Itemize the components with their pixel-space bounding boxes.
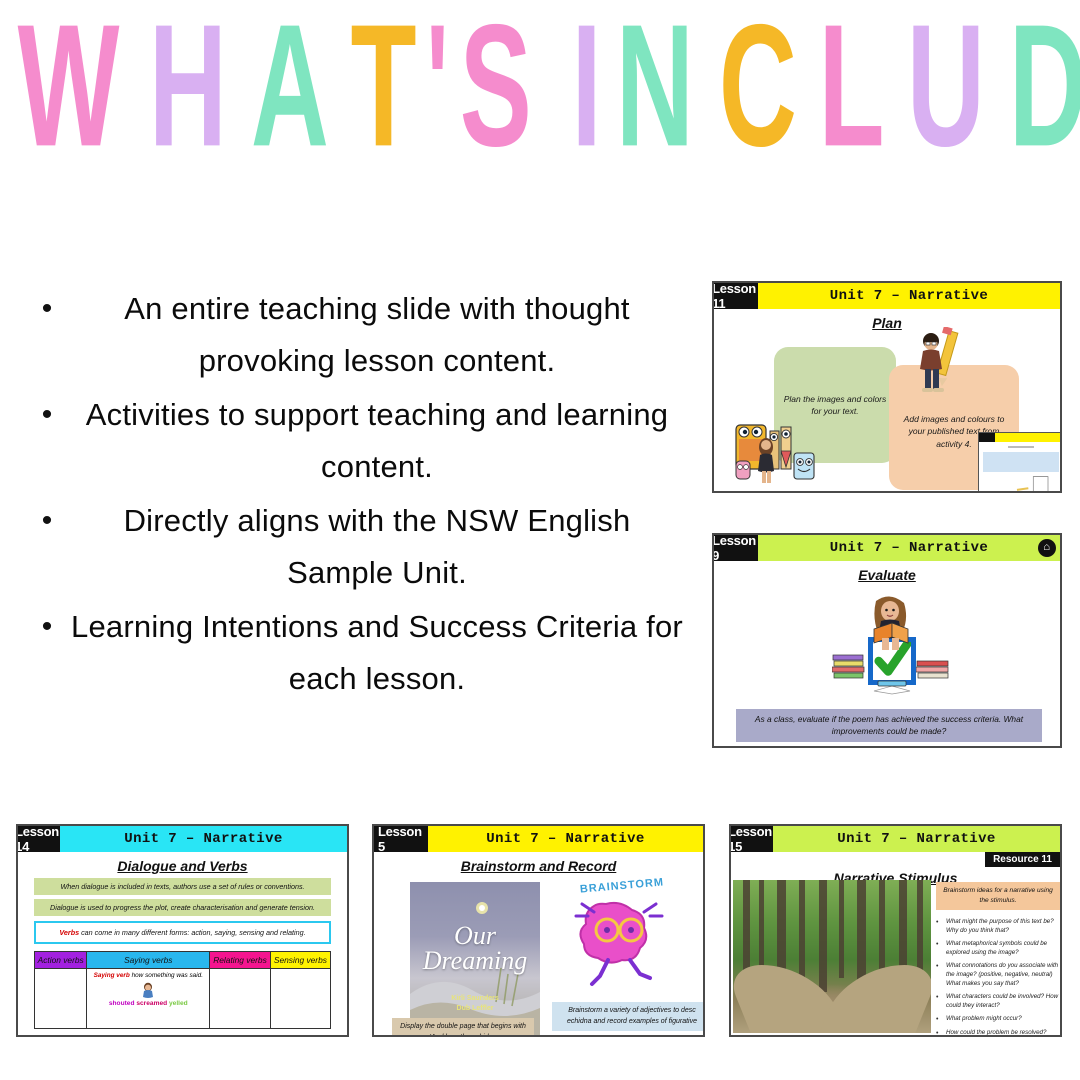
- question-bullet-icon: •: [936, 993, 946, 1011]
- open-book-icon: [872, 679, 912, 695]
- title-letter-8: N: [616, 0, 693, 172]
- mini-slide-caption-box: [983, 452, 1059, 472]
- table-header-row: Action verbs Saying verbs Relating verbs…: [35, 952, 331, 969]
- unit-title-bar: Unit 7 – Narrative: [758, 283, 1060, 309]
- title-letter-10: L: [819, 0, 884, 172]
- question-text: What might the purpose of this text be? …: [946, 918, 1062, 936]
- green-card-text: Plan the images and colors for your text…: [774, 393, 896, 418]
- mini-lesson-tag: [979, 433, 995, 442]
- bullet-text: An entire teaching slide with thought pr…: [68, 283, 686, 387]
- brainstorm-caption: Brainstorm a variety of adjectives to de…: [552, 1002, 705, 1031]
- bullet-marker-icon: •: [26, 389, 68, 441]
- stimulus-question-5: •What problem might occur?: [936, 1015, 1062, 1025]
- book-stack-left-icon: [832, 653, 866, 679]
- bullet-item-4: •Learning Intentions and Success Criteri…: [26, 601, 686, 705]
- slide-thumbnail-lesson-11[interactable]: Lesson 11 Unit 7 – Narrative Plan Plan t…: [712, 281, 1062, 493]
- splash-word-shouted: shouted: [109, 1000, 135, 1007]
- title-letter-5: S: [459, 0, 530, 172]
- bullet-item-1: •An entire teaching slide with thought p…: [26, 283, 686, 387]
- nested-mini-slide: [978, 432, 1062, 492]
- cell-relating-verbs[interactable]: [210, 969, 271, 1029]
- lesson-number-tag: Lesson 15: [729, 826, 773, 852]
- title-letter-11: U: [906, 0, 983, 172]
- mini-unit-bar: [995, 433, 1062, 442]
- stimulus-question-1: •What might the purpose of this text be?…: [936, 918, 1062, 936]
- mini-paper-pencil-icon: [979, 475, 1062, 493]
- cell-saying-verbs[interactable]: Saying verb how something was said. shou…: [87, 969, 210, 1029]
- cell-note-rest: how something was said.: [130, 972, 203, 979]
- title-letter-2: A: [251, 0, 328, 172]
- splash-word-yelled: yelled: [169, 1000, 188, 1007]
- question-bullet-icon: •: [936, 918, 946, 936]
- slide-body: Plan Plan the images and colors for your…: [714, 309, 1060, 493]
- info-bar-highlight: Verbs can come in many different forms: …: [34, 921, 331, 944]
- brain-character-icon: [564, 886, 674, 996]
- question-bullet-icon: •: [936, 940, 946, 958]
- slide-thumbnail-lesson-5[interactable]: Lesson 5 Unit 7 – Narrative Brainstorm a…: [372, 824, 705, 1037]
- bullet-marker-icon: •: [26, 283, 68, 335]
- stimulus-question-3: •What connotations do you associate with…: [936, 962, 1062, 989]
- bullet-text: Activities to support teaching and learn…: [68, 389, 686, 493]
- question-text: What connotations do you associate with …: [946, 962, 1062, 989]
- unit-title-text: Unit 7 – Narrative: [830, 288, 988, 304]
- title-letter-1: H: [148, 0, 225, 172]
- cell-sensing-verbs[interactable]: [270, 969, 330, 1029]
- slide-thumbnail-lesson-14[interactable]: Lesson 14 Unit 7 – Narrative Dialogue an…: [16, 824, 349, 1037]
- bullet-text: Learning Intentions and Success Criteria…: [68, 601, 686, 705]
- bullet-marker-icon: •: [26, 601, 68, 653]
- unit-title-text: Unit 7 – Narrative: [486, 831, 644, 847]
- table-header-action: Action verbs: [35, 952, 87, 969]
- slide-header: Lesson 15 Unit 7 – Narrative: [731, 826, 1060, 852]
- bullet-text: Directly aligns with the NSW English Sam…: [68, 495, 686, 599]
- verb-types-table: Action verbs Saying verbs Relating verbs…: [34, 951, 331, 1029]
- slide-title: Brainstorm and Record: [374, 852, 703, 874]
- unit-title-text: Unit 7 – Narrative: [830, 540, 988, 556]
- question-text: What problem might occur?: [946, 1015, 1062, 1025]
- page-title: WHAT'SINCLUDED: [0, 22, 1080, 172]
- resource-badge: Resource 11: [985, 852, 1060, 867]
- mini-slide-title-line: [1008, 446, 1033, 448]
- question-text: How could the problem be resolved?: [946, 1029, 1062, 1037]
- girl-reading-icon: [862, 593, 920, 655]
- title-letter-9: C: [719, 0, 796, 172]
- unit-title-bar: Unit 7 – Narrative: [773, 826, 1060, 852]
- stimulus-question-4: •What characters could be involved? How …: [936, 993, 1062, 1011]
- splash-word-screamed: screamed: [136, 1000, 167, 1007]
- slide-title: Dialogue and Verbs: [30, 852, 335, 874]
- bullet-marker-icon: •: [26, 495, 68, 547]
- stimulus-caption: Brainstorm ideas for a narrative using t…: [936, 882, 1060, 910]
- question-text: What metaphorical symbols could be explo…: [946, 940, 1062, 958]
- slide-body: Evaluate: [714, 561, 1060, 748]
- title-letter-12: D: [1009, 0, 1080, 172]
- table-header-relating: Relating verbs: [210, 952, 271, 969]
- lesson-number-tag: Lesson 9: [712, 535, 758, 561]
- speaking-person-icon: [141, 982, 155, 998]
- unit-title-text: Unit 7 – Narrative: [124, 831, 282, 847]
- table-header-saying: Saying verbs: [87, 952, 210, 969]
- unit-title-bar: Unit 7 – Narrative ⌂: [758, 535, 1060, 561]
- mini-slide-header: [979, 433, 1062, 442]
- cell-note-bold: Saying verb: [94, 972, 130, 979]
- display-instruction-caption: Display the double page that begins with…: [392, 1018, 534, 1037]
- stimulus-question-6: •How could the problem be resolved?: [936, 1029, 1062, 1037]
- table-row: Saying verb how something was said. shou…: [35, 969, 331, 1029]
- slide-body: Dialogue and Verbs When dialogue is incl…: [18, 852, 347, 1037]
- slide-header: Lesson 9 Unit 7 – Narrative ⌂: [714, 535, 1060, 561]
- slide-thumbnail-lesson-9[interactable]: Lesson 9 Unit 7 – Narrative ⌂ Evaluate: [712, 533, 1062, 748]
- slide-header: Lesson 14 Unit 7 – Narrative: [18, 826, 347, 852]
- title-letter-0: W: [18, 0, 118, 172]
- question-bullet-icon: •: [936, 962, 946, 989]
- feature-bullet-list: •An entire teaching slide with thought p…: [26, 283, 686, 707]
- lesson-number-tag: Lesson 11: [712, 283, 758, 309]
- bullet-item-3: •Directly aligns with the NSW English Sa…: [26, 495, 686, 599]
- slide-body: Brainstorm and Record Our Dreaming Kirli…: [374, 852, 703, 1037]
- bullet-item-2: •Activities to support teaching and lear…: [26, 389, 686, 493]
- slide-title: Evaluate: [714, 561, 1060, 583]
- question-bullet-icon: •: [936, 1015, 946, 1025]
- evaluate-caption: As a class, evaluate if the poem has ach…: [736, 709, 1042, 742]
- slide-body: Resource 11 Narrative Stimulus Brainstor…: [731, 852, 1060, 1037]
- slide-header: Lesson 5 Unit 7 – Narrative: [374, 826, 703, 852]
- book-stack-right-icon: [916, 657, 950, 683]
- cell-note: Saying verb how something was said.: [87, 969, 209, 981]
- info-bar-2: Dialogue is used to progress the plot, c…: [34, 899, 331, 916]
- evaluate-illustration: [832, 591, 950, 699]
- cell-action-verbs[interactable]: [35, 969, 87, 1029]
- question-text: What characters could be involved? How c…: [946, 993, 1062, 1011]
- stimulus-question-2: •What metaphorical symbols could be expl…: [936, 940, 1062, 958]
- unit-title-bar: Unit 7 – Narrative: [428, 826, 703, 852]
- book-title-line2: Dreaming: [423, 946, 527, 975]
- slide-header: Lesson 11 Unit 7 – Narrative: [714, 283, 1060, 309]
- book-cover-image: Our Dreaming Kirli Saunders Dub Leffler: [410, 882, 540, 1037]
- home-icon[interactable]: ⌂: [1038, 539, 1056, 557]
- title-letter-4: ': [426, 0, 447, 172]
- slide-title: Plan: [714, 309, 1060, 331]
- title-letter-7: I: [571, 0, 600, 172]
- stimulus-question-list: •What might the purpose of this text be?…: [936, 918, 1062, 1037]
- highlight-bold-word: Verbs: [59, 928, 79, 937]
- lesson-number-tag: Lesson 14: [16, 826, 60, 852]
- question-bullet-icon: •: [936, 1029, 946, 1037]
- table-header-sensing: Sensing verbs: [270, 952, 330, 969]
- lesson-number-tag: Lesson 5: [374, 826, 428, 852]
- book-authors: Kirli Saunders Dub Leffler: [410, 994, 540, 1014]
- book-title: Our Dreaming: [410, 924, 540, 973]
- person-with-pencil-icon: [910, 327, 970, 399]
- info-bar-1: When dialogue is included in texts, auth…: [34, 878, 331, 895]
- forest-stimulus-photo: [733, 880, 931, 1033]
- unit-title-text: Unit 7 – Narrative: [837, 831, 995, 847]
- title-letter-3: T: [351, 0, 416, 172]
- poster-canvas: WHAT'SINCLUDED •An entire teaching slide…: [0, 0, 1080, 1080]
- unit-title-bar: Unit 7 – Narrative: [60, 826, 347, 852]
- splash-words: shouted screamed yelled: [87, 1000, 209, 1007]
- slide-thumbnail-lesson-15[interactable]: Lesson 15 Unit 7 – Narrative Resource 11…: [729, 824, 1062, 1037]
- stationery-characters-icon: [734, 417, 832, 487]
- highlight-rest-text: can come in many different forms: action…: [79, 928, 306, 937]
